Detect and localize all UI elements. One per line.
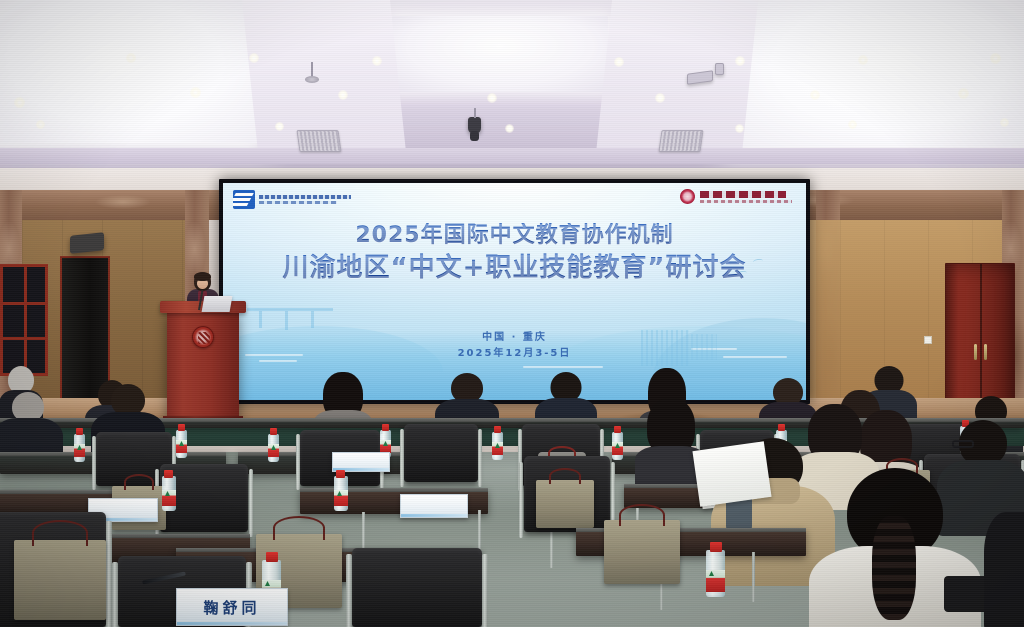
ceiling-vent <box>658 130 703 152</box>
water-bottle <box>162 470 176 512</box>
ceiling-downlight <box>372 56 382 66</box>
water-bottle <box>612 426 623 460</box>
water-bottle <box>706 542 725 598</box>
water-bottle <box>492 426 503 460</box>
slide-location: 中国 · 重庆 <box>223 330 806 346</box>
document-sheet <box>692 441 771 506</box>
water-bottle <box>334 470 348 512</box>
slide-subtitle-block: 中国 · 重庆 2025年12月3-5日 <box>223 330 806 361</box>
ceiling-downlight <box>487 93 497 103</box>
ceiling-downlight <box>614 57 624 67</box>
table-leg <box>752 552 755 602</box>
ceiling-downlight <box>249 53 259 63</box>
chair[interactable] <box>404 424 478 482</box>
ceiling-downlight <box>14 97 25 108</box>
ceiling-downlight <box>275 122 284 131</box>
university-crest-icon <box>192 326 214 348</box>
name-card-text: 鞠舒同 <box>203 597 260 618</box>
name-card <box>332 452 390 472</box>
chair[interactable] <box>352 548 482 627</box>
ceiling-downlight <box>190 87 201 98</box>
podium-laptop <box>202 296 233 312</box>
ceiling-cornice <box>0 148 1024 164</box>
ceiling-camera-icon <box>468 117 481 134</box>
logo-wordmark <box>259 195 351 204</box>
ceiling-downlight <box>848 120 857 129</box>
logo-mark-icon <box>233 190 255 209</box>
ceiling-light-panel-center <box>392 16 608 92</box>
gift-bag <box>14 540 106 620</box>
slide-title-line-2: 川渝地区“中文+职业技能教育”研讨会 <box>223 253 806 285</box>
ceiling-downlight <box>810 90 820 100</box>
ceiling-downlight <box>958 88 969 99</box>
slide-title-line-1: 2025年国际中文教育协作机制 <box>223 223 806 250</box>
chongqing-normal-university-logo <box>680 189 792 204</box>
ceiling-downlight <box>735 124 744 133</box>
ceiling-downlight <box>36 120 45 129</box>
speaker-lectern <box>167 308 239 420</box>
hair-braid <box>872 516 916 620</box>
sprinkler-head <box>305 76 319 83</box>
ceiling-downlight <box>126 53 136 63</box>
ceiling-downlight <box>505 124 514 133</box>
ceiling-downlight <box>338 90 348 100</box>
presentation-slide: 2025年国际中文教育协作机制 川渝地区“中文+职业技能教育”研讨会 中国 · … <box>223 183 806 400</box>
university-wordmark <box>700 191 792 203</box>
slide-bridge <box>247 308 333 330</box>
slide-dates: 2025年12月3-5日 <box>223 346 806 362</box>
water-bottle <box>268 428 279 462</box>
water-bottle <box>74 428 85 462</box>
conference-hall-photo: 2025年国际中文教育协作机制 川渝地区“中文+职业技能教育”研讨会 中国 · … <box>0 0 1024 627</box>
ceiling-vent <box>296 130 341 152</box>
name-card <box>400 494 468 518</box>
gift-bag <box>604 520 680 584</box>
gift-bag <box>536 480 594 528</box>
wall-switch[interactable] <box>924 336 932 344</box>
window-left <box>0 264 48 376</box>
led-video-wall: 2025年国际中文教育协作机制 川渝地区“中文+职业技能教育”研讨会 中国 · … <box>219 179 810 404</box>
ceiling-downlight <box>858 55 868 65</box>
wall-speaker-left <box>70 232 104 254</box>
university-seal-icon <box>680 189 695 204</box>
ceiling-light-panel-right <box>730 0 1024 147</box>
eyeglasses-icon <box>952 440 974 448</box>
ceiling-downlight <box>655 93 665 103</box>
language-cooperation-center-logo <box>233 190 351 209</box>
attendee-foreground <box>986 512 1024 627</box>
slide-wave <box>523 366 603 368</box>
camera-rod <box>474 108 476 118</box>
projector-mount-arm <box>715 63 724 75</box>
ceiling-downlight <box>990 53 1001 64</box>
ceiling-downlight <box>735 56 745 66</box>
water-bottle <box>176 424 187 458</box>
name-card: 鞠舒同 <box>176 588 288 626</box>
ceiling-downlight <box>1000 118 1009 127</box>
ceiling <box>0 0 1024 178</box>
slide-title-block: 2025年国际中文教育协作机制 川渝地区“中文+职业技能教育”研讨会 <box>223 223 806 285</box>
